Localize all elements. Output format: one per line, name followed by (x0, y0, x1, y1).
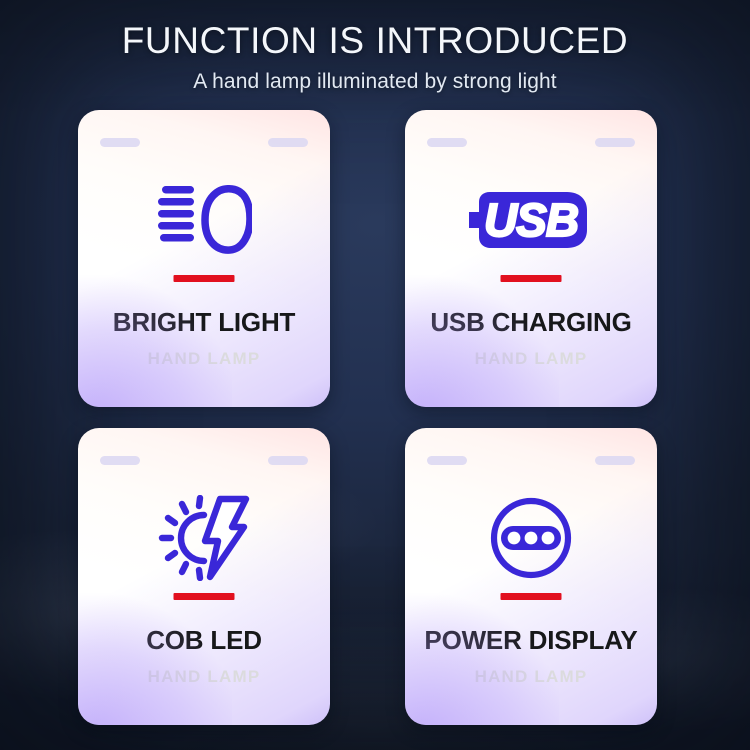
card-top-markers (405, 456, 657, 465)
card-subtitle: HAND LAMP (78, 667, 330, 687)
feature-card-usb-charging[interactable]: USB USB CHARGING HAND LAMP (405, 110, 657, 407)
card-marker-left (100, 138, 140, 147)
card-top-markers (78, 456, 330, 465)
card-title: USB CHARGING (405, 307, 657, 338)
page-subtitle: A hand lamp illuminated by strong light (0, 70, 750, 94)
card-subtitle: HAND LAMP (405, 667, 657, 687)
card-marker-left (100, 456, 140, 465)
card-title: COB LED (78, 625, 330, 656)
card-subtitle: HAND LAMP (405, 349, 657, 369)
accent-bar (174, 593, 235, 600)
card-top-markers (78, 138, 330, 147)
page-title: FUNCTION IS INTRODUCED (0, 22, 750, 61)
accent-bar (501, 593, 562, 600)
feature-card-bright-light[interactable]: BRIGHT LIGHT HAND LAMP (78, 110, 330, 407)
card-top-markers (405, 138, 657, 147)
card-marker-left (427, 138, 467, 147)
accent-bar (501, 275, 562, 282)
feature-card-grid: BRIGHT LIGHT HAND LAMP USB USB CHARGING … (78, 110, 674, 725)
card-title: BRIGHT LIGHT (78, 307, 330, 338)
sun-lightning-icon (78, 488, 330, 588)
card-marker-right (595, 138, 635, 147)
card-subtitle: HAND LAMP (78, 349, 330, 369)
card-marker-right (268, 138, 308, 147)
card-marker-right (268, 456, 308, 465)
usb-icon: USB (405, 170, 657, 270)
feature-card-power-display[interactable]: POWER DISPLAY HAND LAMP (405, 428, 657, 725)
feature-card-cob-led[interactable]: COB LED HAND LAMP (78, 428, 330, 725)
promo-banner: FUNCTION IS INTRODUCED A hand lamp illum… (0, 0, 750, 750)
header: FUNCTION IS INTRODUCED A hand lamp illum… (0, 0, 750, 94)
svg-text:USB: USB (484, 194, 578, 246)
accent-bar (174, 275, 235, 282)
battery-level-icon (405, 488, 657, 588)
card-title: POWER DISPLAY (405, 625, 657, 656)
card-marker-right (595, 456, 635, 465)
card-marker-left (427, 456, 467, 465)
headlight-icon (78, 170, 330, 270)
